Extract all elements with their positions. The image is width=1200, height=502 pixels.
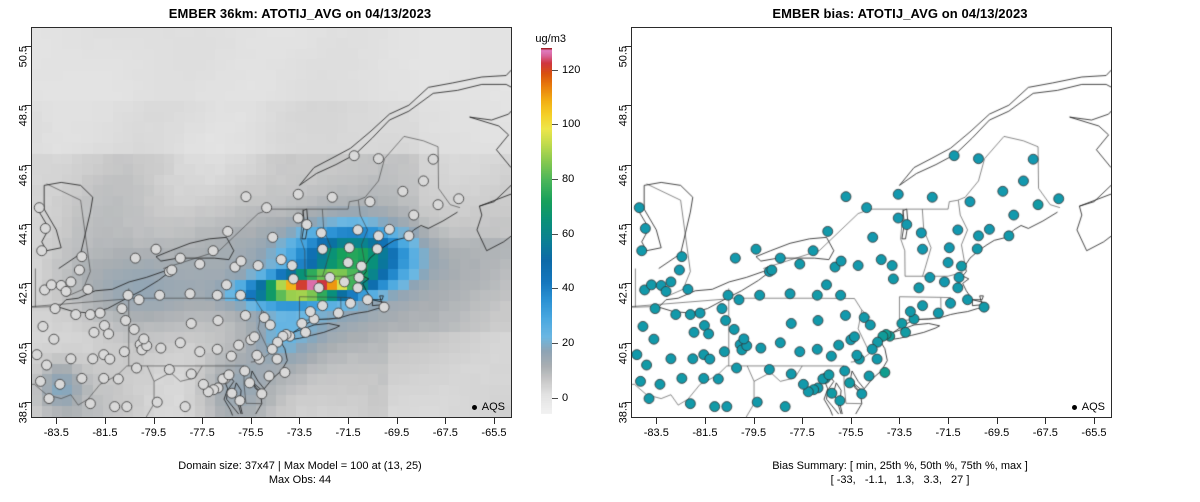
aqs-legend-label: AQS — [482, 402, 505, 413]
x-tick-label: -73.5 — [887, 427, 912, 439]
x-tick-label: -77.5 — [190, 427, 215, 439]
x-tick-mark — [705, 418, 706, 424]
x-tick-mark — [202, 418, 203, 424]
y-tick-label: 38.5 — [17, 402, 29, 423]
x-tick-mark — [656, 418, 657, 424]
aqs-marker-icon — [472, 405, 477, 410]
x-tick-label: -69.5 — [384, 427, 409, 439]
y-axis-bias: 38.540.542.544.546.548.550.5 — [600, 27, 631, 418]
colorbar-ticks-model: 020406080100120 — [552, 48, 604, 414]
x-axis-model: -83.5-81.5-79.5-77.5-75.5-73.5-71.5-69.5… — [31, 418, 512, 448]
figure-root: EMBER 36km: ATOTIJ_AVG on 04/13/2023 AQS… — [0, 0, 1200, 502]
x-tick-mark — [105, 418, 106, 424]
x-tick-mark — [445, 418, 446, 424]
x-tick-mark — [1094, 418, 1095, 424]
x-tick-mark — [251, 418, 252, 424]
x-tick-mark — [997, 418, 998, 424]
x-tick-mark — [299, 418, 300, 424]
y-axis-model: 38.540.542.544.546.548.550.5 — [0, 27, 31, 418]
x-tick-label: -71.5 — [336, 427, 361, 439]
y-tick-label: 44.5 — [617, 224, 629, 245]
colorbar-tick-mark — [552, 234, 558, 235]
y-tick-label: 44.5 — [17, 224, 29, 245]
x-tick-label: -71.5 — [936, 427, 961, 439]
x-tick-mark — [494, 418, 495, 424]
x-tick-label: -81.5 — [92, 427, 117, 439]
y-tick-label: 50.5 — [17, 46, 29, 67]
x-tick-label: -83.5 — [644, 427, 669, 439]
colorbar-tick-mark — [552, 288, 558, 289]
map-plot-bias[interactable]: AQS — [631, 27, 1112, 418]
x-tick-mark — [154, 418, 155, 424]
colorbar-tick-mark — [552, 70, 558, 71]
colorbar-tick-label: 120 — [562, 64, 580, 76]
y-tick-label: 42.5 — [17, 283, 29, 304]
x-tick-label: -65.5 — [481, 427, 506, 439]
x-axis-bias: -83.5-81.5-79.5-77.5-75.5-73.5-71.5-69.5… — [631, 418, 1112, 448]
map-plot-model[interactable]: AQS — [31, 27, 512, 418]
y-tick-label: 48.5 — [17, 105, 29, 126]
colorbar-tick-mark — [552, 124, 558, 125]
y-tick-label: 50.5 — [617, 46, 629, 67]
caption-model-line2: Max Obs: 44 — [0, 473, 600, 487]
colorbar-unit-label: ug/m3 — [516, 33, 566, 45]
x-tick-label: -79.5 — [741, 427, 766, 439]
x-tick-mark — [851, 418, 852, 424]
x-tick-label: -69.5 — [984, 427, 1009, 439]
aqs-marker-icon — [1072, 405, 1077, 410]
colorbar-tick-label: 60 — [562, 228, 574, 240]
panel-bias: EMBER bias: ATOTIJ_AVG on 04/13/2023 AQS… — [600, 0, 1200, 502]
colorbar-tick-mark — [552, 343, 558, 344]
map-canvas-bias — [632, 28, 1111, 417]
panel-model-title: EMBER 36km: ATOTIJ_AVG on 04/13/2023 — [0, 6, 600, 21]
x-tick-label: -79.5 — [141, 427, 166, 439]
y-tick-label: 40.5 — [617, 343, 629, 364]
colorbar-tick-label: 20 — [562, 337, 574, 349]
x-tick-label: -67.5 — [1033, 427, 1058, 439]
colorbar-strip-model — [541, 48, 552, 414]
colorbar-tick-label: 100 — [562, 118, 580, 130]
aqs-legend-label: AQS — [1082, 402, 1105, 413]
map-canvas-model — [32, 28, 511, 417]
x-tick-label: -77.5 — [790, 427, 815, 439]
colorbar-tick-label: 40 — [562, 282, 574, 294]
colorbar-model: ug/m3 020406080100120 — [516, 27, 604, 418]
y-tick-label: 48.5 — [617, 105, 629, 126]
x-tick-mark — [802, 418, 803, 424]
y-tick-label: 38.5 — [617, 402, 629, 423]
x-tick-label: -81.5 — [692, 427, 717, 439]
x-tick-label: -75.5 — [238, 427, 263, 439]
caption-bias-line1: Bias Summary: [ min, 25th %, 50th %, 75t… — [600, 459, 1200, 473]
colorbar-tick-mark — [552, 398, 558, 399]
x-tick-label: -73.5 — [287, 427, 312, 439]
x-tick-mark — [56, 418, 57, 424]
x-tick-label: -65.5 — [1081, 427, 1106, 439]
y-tick-label: 46.5 — [17, 165, 29, 186]
aqs-legend-model: AQS — [470, 401, 507, 414]
y-tick-label: 42.5 — [617, 283, 629, 304]
panel-model: EMBER 36km: ATOTIJ_AVG on 04/13/2023 AQS… — [0, 0, 600, 502]
x-tick-mark — [754, 418, 755, 424]
x-tick-label: -75.5 — [838, 427, 863, 439]
aqs-legend-bias: AQS — [1070, 401, 1107, 414]
caption-model-line1: Domain size: 37x47 | Max Model = 100 at … — [0, 459, 600, 473]
x-tick-label: -67.5 — [433, 427, 458, 439]
x-tick-label: -83.5 — [44, 427, 69, 439]
x-tick-mark — [397, 418, 398, 424]
panel-bias-title: EMBER bias: ATOTIJ_AVG on 04/13/2023 — [600, 6, 1200, 21]
colorbar-tick-label: 0 — [562, 392, 568, 404]
colorbar-tick-label: 80 — [562, 173, 574, 185]
y-tick-label: 40.5 — [17, 343, 29, 364]
x-tick-mark — [348, 418, 349, 424]
colorbar-tick-mark — [552, 179, 558, 180]
y-tick-label: 46.5 — [617, 165, 629, 186]
x-tick-mark — [899, 418, 900, 424]
caption-bias-line2: [ -33, -1.1, 1.3, 3.3, 27 ] — [600, 473, 1200, 487]
x-tick-mark — [1045, 418, 1046, 424]
x-tick-mark — [948, 418, 949, 424]
